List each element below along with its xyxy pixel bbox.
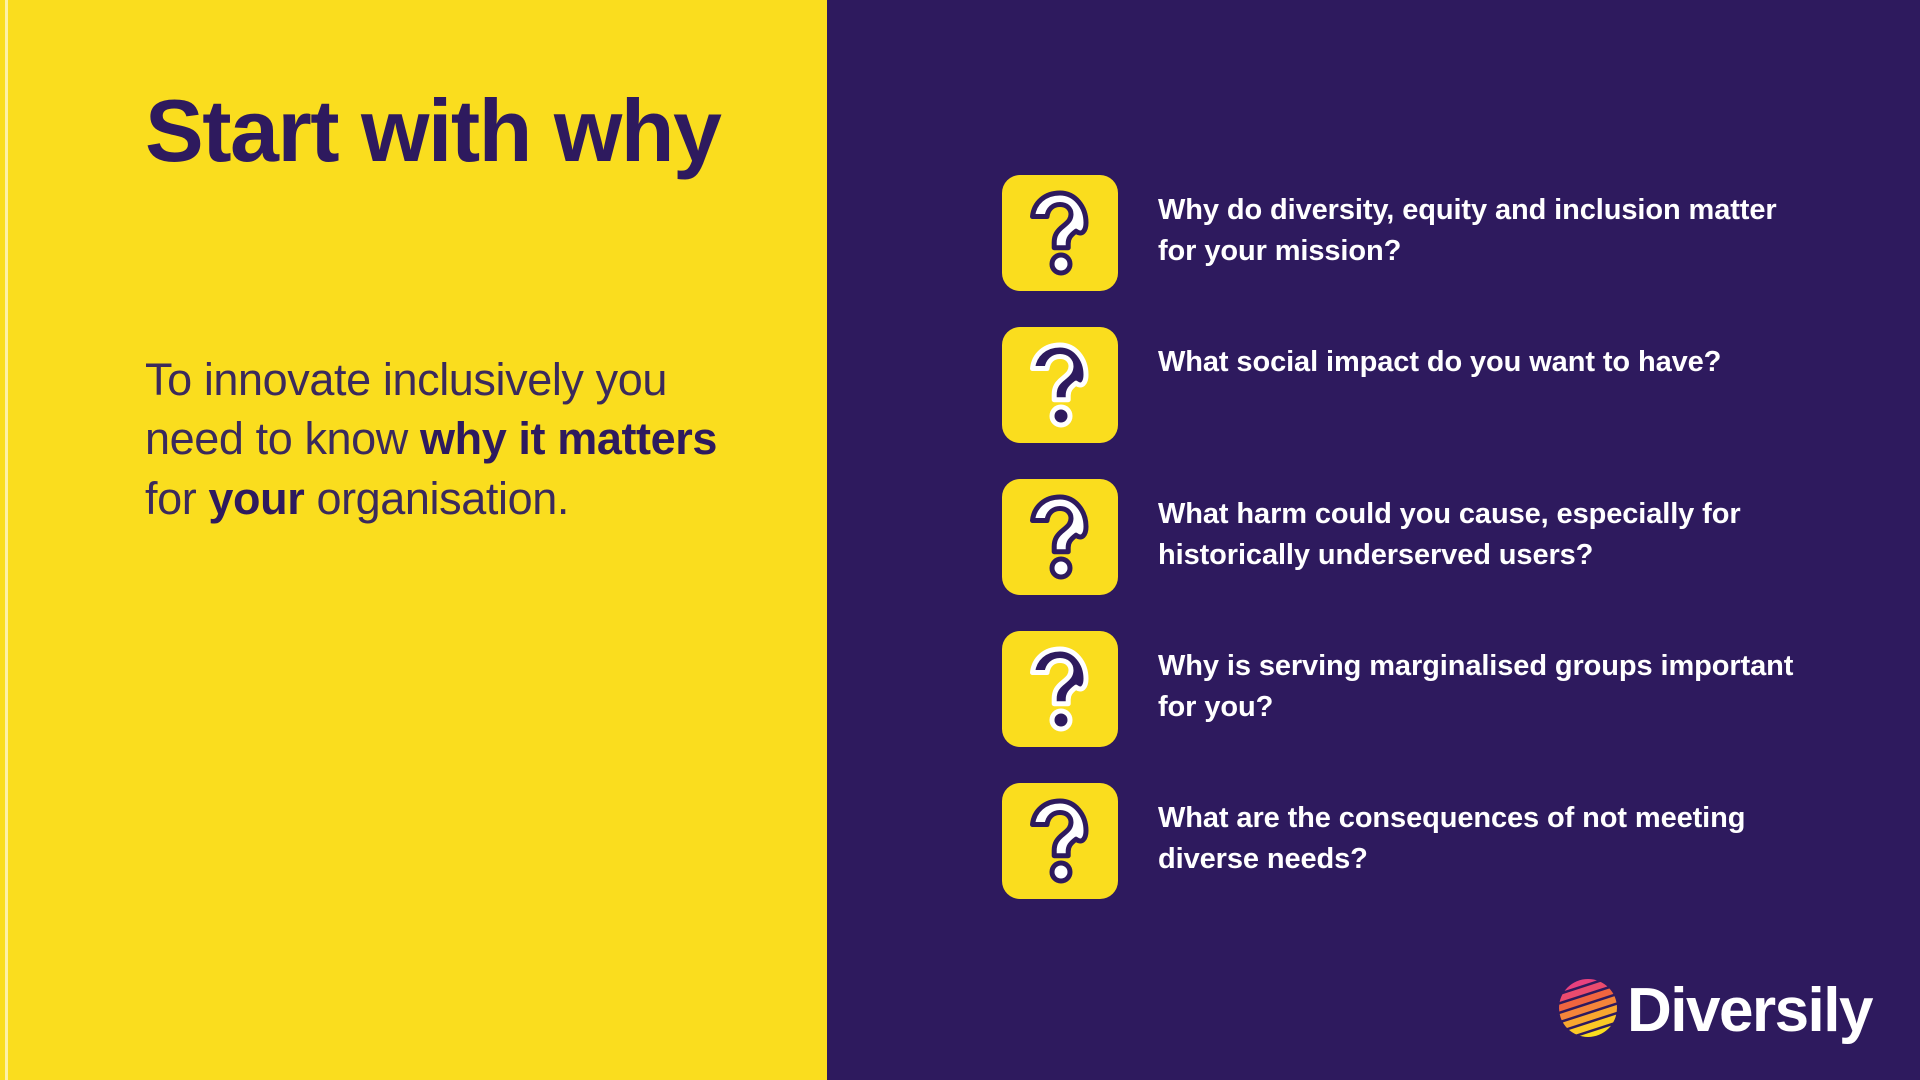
diversily-logo: Diversily	[1557, 977, 1872, 1044]
question-text: What social impact do you want to have?	[1158, 327, 1721, 383]
question-mark-icon	[1002, 327, 1118, 443]
list-item: Why is serving marginalised groups impor…	[1002, 631, 1802, 747]
lead-text-part3: organisation.	[304, 473, 569, 524]
question-text: Why do diversity, equity and inclusion m…	[1158, 175, 1802, 272]
question-list: Why do diversity, equity and inclusion m…	[1002, 175, 1802, 899]
lead-text-bold2: your	[208, 473, 304, 524]
question-mark-icon	[1002, 175, 1118, 291]
page-title: Start with why	[145, 86, 745, 176]
list-item: What harm could you cause, especially fo…	[1002, 479, 1802, 595]
left-yellow-panel: Start with why To innovate inclusively y…	[0, 0, 827, 1080]
question-mark-icon	[1002, 479, 1118, 595]
question-text: What are the consequences of not meeting…	[1158, 783, 1802, 880]
lead-text-part2: for	[145, 473, 208, 524]
question-text: What harm could you cause, especially fo…	[1158, 479, 1802, 576]
left-edge-accent-line	[5, 0, 8, 1080]
question-mark-icon	[1002, 631, 1118, 747]
diversily-wordmark: Diversily	[1627, 980, 1872, 1042]
list-item: What are the consequences of not meeting…	[1002, 783, 1802, 899]
list-item: Why do diversity, equity and inclusion m…	[1002, 175, 1802, 291]
lead-paragraph: To innovate inclusively you need to know…	[145, 350, 735, 528]
right-purple-panel: Why do diversity, equity and inclusion m…	[827, 0, 1920, 1080]
question-text: Why is serving marginalised groups impor…	[1158, 631, 1802, 728]
question-mark-icon	[1002, 783, 1118, 899]
slide: Start with why To innovate inclusively y…	[0, 0, 1920, 1080]
lead-text-bold1: why it matters	[420, 413, 717, 464]
diversily-globe-icon	[1557, 977, 1619, 1044]
list-item: What social impact do you want to have?	[1002, 327, 1802, 443]
